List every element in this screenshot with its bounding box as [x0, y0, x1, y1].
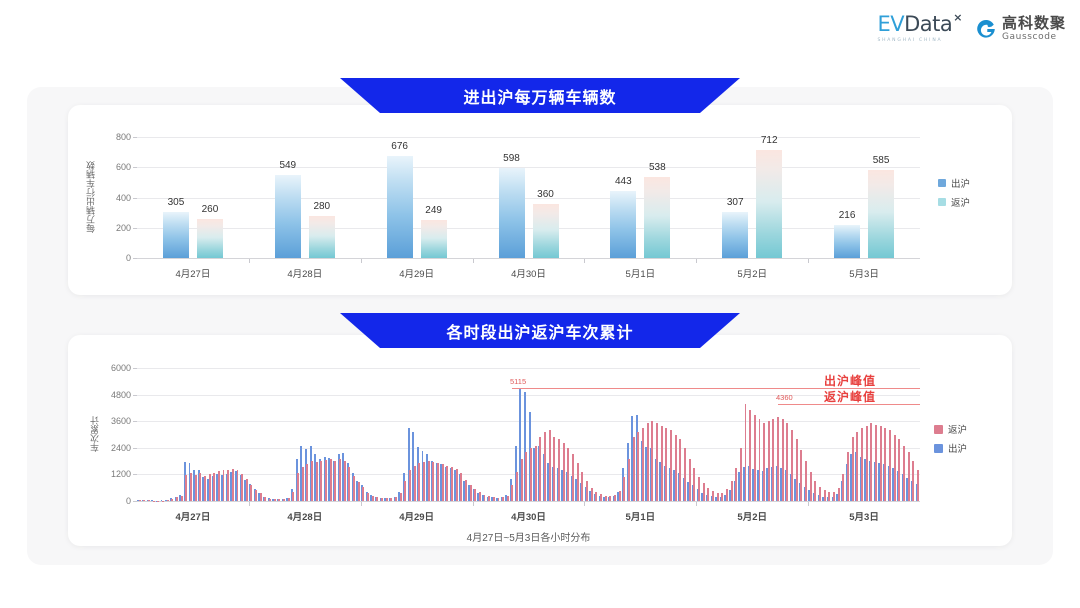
- chart2-hourly-bar-ret: [614, 495, 616, 501]
- chart2-group-separator: [361, 502, 362, 506]
- chart2-hourly-bar-ret: [437, 463, 439, 501]
- chart2-hourly-bar-ret: [525, 452, 527, 501]
- chart2-hourly-bar-ret: [339, 459, 341, 501]
- chart2-hourly-bar-ret: [721, 493, 723, 501]
- chart2-legend-label-0: 返沪: [948, 422, 967, 436]
- chart2-hourly-bar-ret: [628, 459, 630, 501]
- chart2-gridline: [137, 395, 920, 396]
- chart2-hourly-bar-ret: [847, 452, 849, 501]
- chart2-hourly-bar-ret: [805, 461, 807, 501]
- chart2-hourly-bar-ret: [390, 498, 392, 501]
- chart2-x-tick: 4月30日: [511, 509, 546, 523]
- chart2-hourly-bar-ret: [530, 448, 532, 501]
- chart2-hourly-bar-ret: [600, 494, 602, 501]
- chart2-x-tick: 4月27日: [175, 509, 210, 523]
- chart2-hourly-bar-ret: [474, 489, 476, 501]
- chart2-hourly-bar-ret: [577, 463, 579, 501]
- chart2-hourly-bar-ret: [539, 437, 541, 501]
- chart2-hourly-bar-ret: [348, 467, 350, 501]
- chart2-hourly-bar-ret: [717, 493, 719, 501]
- chart2-x-tick: 5月3日: [849, 509, 879, 523]
- chart2-hourly-bar-ret: [735, 468, 737, 501]
- chart2-hourly-bar-ret: [400, 493, 402, 501]
- chart2-hourly-bar-ret: [609, 496, 611, 501]
- chart2-hourly-bar-ret: [558, 439, 560, 501]
- chart2-hourly-bar-ret: [246, 479, 248, 501]
- chart2-group-separator: [696, 502, 697, 506]
- chart2-hourly-bar-ret: [745, 404, 747, 501]
- chart2-x-tick: 5月2日: [737, 509, 767, 523]
- chart2-hourly-bar-ret: [264, 497, 266, 501]
- chart2-hourly-bar-ret: [185, 475, 187, 501]
- chart2-hourly-bar-ret: [283, 499, 285, 501]
- chart2-y-tickmark: [133, 448, 137, 449]
- chart2-y-tickmark: [133, 421, 137, 422]
- chart2-hourly-bar-ret: [572, 454, 574, 501]
- chart2-hourly-bar-ret: [465, 480, 467, 501]
- chart2-hourly-bar-ret: [446, 466, 448, 501]
- chart2-hourly-bar-ret: [642, 428, 644, 501]
- chart2-hourly-bar-ret: [623, 477, 625, 501]
- chart2-hourly-bar-ret: [903, 446, 905, 501]
- chart2-hourly-bar-ret: [759, 419, 761, 501]
- chart2-hourly-bar-ret: [209, 474, 211, 501]
- chart2-hourly-bar-ret: [241, 474, 243, 501]
- chart2-group-separator: [473, 502, 474, 506]
- chart2-y-tick: 6000: [95, 363, 131, 373]
- chart2-y-tickmark: [133, 368, 137, 369]
- chart2-hourly-bar-ret: [749, 410, 751, 501]
- chart2-hourly-bar-ret: [563, 443, 565, 501]
- chart2-hourly-bar-ret: [889, 430, 891, 501]
- chart2-hourly-bar-ret: [726, 489, 728, 501]
- chart2-legend-swatch-0: [934, 425, 943, 434]
- chart2-hourly-bar-ret: [498, 498, 500, 501]
- chart2-hourly-bar-ret: [731, 481, 733, 501]
- chart2-hourly-bar-ret: [181, 496, 183, 501]
- chart2-hourly-bar-ret: [232, 469, 234, 501]
- chart2-hourly-bar-ret: [824, 490, 826, 501]
- chart2-hourly-bar-ret: [316, 462, 318, 501]
- chart2-hourly-bar-ret: [852, 437, 854, 501]
- chart2-hourly-bar-ret: [698, 477, 700, 501]
- chart2-hourly-bar-ret: [880, 426, 882, 501]
- chart2-hourly-bar-ret: [819, 487, 821, 501]
- chart2-hourly-bar-ret: [190, 473, 192, 501]
- chart2-hourly-bar-ret: [898, 439, 900, 501]
- chart2-hourly-bar-ret: [423, 462, 425, 501]
- chart2-hourly-bar-ret: [302, 467, 304, 501]
- chart2-group-separator: [584, 502, 585, 506]
- chart2-hourly-bar-ret: [619, 491, 621, 501]
- chart2-hourly-bar-ret: [479, 492, 481, 501]
- chart2-y-tickmark: [133, 395, 137, 396]
- chart2-hourly-bar-ret: [493, 497, 495, 501]
- chart2-title-banner: 各时段出沪返沪车次累计: [340, 313, 740, 348]
- chart2-legend: 返沪出沪: [934, 422, 967, 455]
- chart2-hourly-bar-ret: [330, 459, 332, 501]
- chart2-hourly-bar-ret: [148, 500, 150, 501]
- chart2-hourly-bar-ret: [358, 482, 360, 501]
- chart2-hourly-bar-ret: [334, 461, 336, 501]
- chart2-hourly-bar-ret: [395, 497, 397, 501]
- chart2-hourly-bar-ret: [381, 498, 383, 501]
- chart2-hourly-bar-ret: [442, 464, 444, 501]
- chart2-gridline: [137, 368, 920, 369]
- chart2-hourly-bar-ret: [176, 497, 178, 501]
- chart2-hourly-bar-ret: [223, 470, 225, 501]
- chart2-hourly-bar-ret: [269, 499, 271, 501]
- chart2-hourly-bar-ret: [684, 448, 686, 501]
- chart2-hourly-bar-ret: [861, 428, 863, 501]
- chart2-legend-swatch-1: [934, 444, 943, 453]
- chart2-hourly-bar-ret: [656, 423, 658, 501]
- chart2-hourly-bar-ret: [908, 452, 910, 501]
- chart2-hourly-bar-ret: [456, 469, 458, 501]
- chart2-hourly-bar-ret: [344, 461, 346, 501]
- chart2-hourly-bar-ret: [507, 496, 509, 501]
- chart2-hourly-bar-ret: [484, 495, 486, 501]
- chart2-y-tick: 3600: [95, 416, 131, 426]
- chart2-hourly-bar-ret: [828, 492, 830, 501]
- chart2-hourly-bar-ret: [777, 417, 779, 501]
- chart2-hourly-bar-ret: [367, 493, 369, 501]
- chart2-hourly-bar-ret: [693, 468, 695, 501]
- chart2-hourly-bar-ret: [800, 450, 802, 501]
- chart2-legend-label-1: 出沪: [948, 441, 967, 455]
- chart2-hourly-bar-ret: [856, 432, 858, 501]
- chart2-hourly-bar-ret: [647, 423, 649, 501]
- chart2-hourly-bar-ret: [796, 439, 798, 501]
- chart2-hourly-bar-ret: [605, 496, 607, 501]
- chart2-y-tick: 0: [95, 496, 131, 506]
- chart2-hourly-bar-ret: [470, 485, 472, 501]
- chart2-legend-item-1: 出沪: [934, 441, 967, 455]
- chart2-x-tick: 4月29日: [399, 509, 434, 523]
- chart2-hourly-bar-ret: [912, 461, 914, 501]
- chart2-hourly-bar-ret: [451, 467, 453, 501]
- chart2-hourly-bar-ret: [199, 473, 201, 501]
- chart2-hourly-bar-ret: [428, 461, 430, 501]
- chart2-hourly-bar-ret: [227, 470, 229, 501]
- chart2-hourly-bar-ret: [320, 461, 322, 501]
- chart2-legend-item-0: 返沪: [934, 422, 967, 436]
- chart2-hourly-bar-ret: [167, 500, 169, 501]
- chart2-hourly-bar-ret: [376, 497, 378, 501]
- chart2-hourly-bar-ret: [814, 481, 816, 501]
- chart2-hourly-bar-ret: [581, 472, 583, 501]
- chart2-group-separator: [249, 502, 250, 506]
- chart2-hourly-bar-ret: [842, 474, 844, 501]
- chart2-hourly-bar-ret: [810, 472, 812, 501]
- chart2-hourly-bar-ret: [292, 492, 294, 501]
- chart2-hourly-bar-ret: [884, 428, 886, 501]
- chart2-hourly-bar-ret: [870, 423, 872, 501]
- chart2-hourly-bar-ret: [255, 490, 257, 501]
- chart2-hourly-bar-ret: [791, 430, 793, 501]
- chart2-hourly-bar-ret: [754, 415, 756, 501]
- chart2-hourly-bar-ret: [213, 473, 215, 501]
- chart2-hourly-bar-ret: [260, 493, 262, 501]
- chart2-hourly-bar-ret: [404, 481, 406, 501]
- chart2-hourly-bar-ret: [553, 437, 555, 501]
- chart2-hourly-bar-ret: [838, 488, 840, 501]
- chart2-hourly-bar-ret: [325, 460, 327, 501]
- chart2-hourly-bar-ret: [633, 437, 635, 501]
- chart2-hourly-bar-ret: [707, 488, 709, 501]
- chart2-hourly-bar-ret: [786, 423, 788, 501]
- chart2-hourly-bar-ret: [675, 435, 677, 502]
- chart2-hourly-bar-ret: [689, 459, 691, 501]
- chart2-hourly-bar-ret: [418, 463, 420, 501]
- chart2-hourly-bar-ret: [833, 492, 835, 501]
- chart2-hourly-bar-ret: [488, 496, 490, 501]
- chart2-hourly-bar-ret: [511, 485, 513, 501]
- chart2-hourly-bar-ret: [372, 496, 374, 501]
- chart2-hourly-bar-ret: [143, 500, 145, 501]
- chart2-hourly-bar-ret: [670, 430, 672, 501]
- chart2-hourly-bar-ret: [237, 470, 239, 501]
- chart2-hourly-bar-ret: [544, 432, 546, 501]
- chart2-hourly-bar-ret: [595, 492, 597, 501]
- chart2-hourly-bar-ret: [917, 470, 919, 501]
- chart2-hourly-bar-ret: [894, 435, 896, 502]
- chart2-hourly-bar-ret: [432, 462, 434, 501]
- chart2-x-axis-title: 4月27日~5月3日各小时分布: [467, 529, 591, 544]
- chart2-hourly-bar-ret: [772, 419, 774, 501]
- chart2-hourly-bar-ret: [139, 500, 141, 501]
- chart2-hourly-bar-ret: [591, 488, 593, 501]
- chart2-annotation-value-ret-peak: 4360: [776, 393, 793, 402]
- chart2-annotation-label-ret-peak: 返沪峰值: [824, 388, 876, 405]
- chart2-hourly-bar-ret: [768, 421, 770, 501]
- chart2-annotation-label-out-peak: 出沪峰值: [824, 372, 876, 389]
- chart2-hourly-bar-ret: [250, 485, 252, 501]
- chart2-hourly-bar-ret: [535, 446, 537, 501]
- chart2-hourly-bar-ret: [171, 499, 173, 501]
- chart2-hourly-bar-ret: [502, 497, 504, 501]
- chart2-annotation-value-out-peak: 5115: [510, 377, 526, 386]
- chart2-hourly-bar-ret: [306, 464, 308, 501]
- chart1-title-banner: 进出沪每万辆车辆数: [340, 78, 740, 113]
- chart2-y-tick: 4800: [95, 390, 131, 400]
- chart2-hourly-bar-ret: [516, 472, 518, 501]
- chart2-group-separator: [808, 502, 809, 506]
- chart2-y-tick: 1200: [95, 469, 131, 479]
- chart2-hourly-bar-ret: [204, 476, 206, 501]
- chart2-hourly-bar-ret: [353, 476, 355, 501]
- chart2-hourly-bar-ret: [409, 470, 411, 501]
- chart2-y-tickmark: [133, 474, 137, 475]
- chart2-hourly-bar-ret: [665, 428, 667, 501]
- chart2-hourly-bar-ret: [651, 421, 653, 501]
- chart2-y-tick: 2400: [95, 443, 131, 453]
- chart2-x-axis-line: [137, 501, 920, 502]
- chart2-hourly-bar-ret: [274, 499, 276, 501]
- chart2-hourly-bar-ret: [567, 448, 569, 501]
- chart2-hourly-bar-ret: [740, 448, 742, 501]
- chart2-hourly-bar-ret: [311, 461, 313, 501]
- chart2-hourly-bar-ret: [521, 459, 523, 501]
- chart2-hourly-bar-ret: [549, 430, 551, 501]
- chart2-hourly-bar-ret: [782, 419, 784, 501]
- chart2-hourly-bar-ret: [712, 491, 714, 501]
- chart2-hourly-bar-ret: [679, 439, 681, 501]
- chart2-hourly-bar-ret: [866, 426, 868, 501]
- chart2-x-tick: 5月1日: [626, 509, 656, 523]
- chart2-hourly-bar-ret: [661, 426, 663, 501]
- chart2-hourly-bar-ret: [460, 473, 462, 501]
- chart2-hourly-bar-ret: [297, 473, 299, 501]
- chart2-hourly-bar-ret: [288, 498, 290, 501]
- chart2-hourly-bar-ret: [763, 423, 765, 501]
- chart2-hourly-bar-ret: [586, 481, 588, 501]
- chart2-x-tick: 4月28日: [287, 509, 322, 523]
- chart2-hourly-bar-ret: [703, 483, 705, 501]
- chart2-hourly-bar-ret: [414, 466, 416, 501]
- chart2-hourly-bar-ret: [278, 499, 280, 501]
- chart2-hourly-bar-ret: [362, 487, 364, 501]
- chart2-hourly-bar-ret: [637, 432, 639, 501]
- chart2-hourly-bar-ret: [195, 475, 197, 501]
- chart2-hourly-bar-ret: [386, 498, 388, 501]
- chart2-hourly-bar-ret: [875, 425, 877, 501]
- chart2-hourly-bar-ret: [218, 471, 220, 501]
